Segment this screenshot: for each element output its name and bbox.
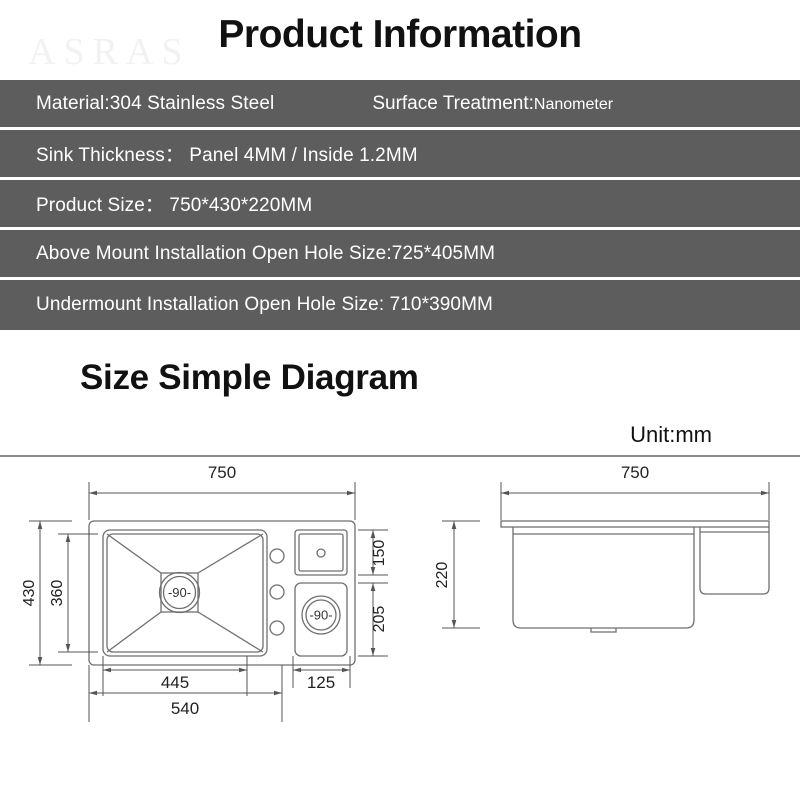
surface-treatment-key: Surface Treatment: bbox=[372, 93, 534, 114]
tap-hole-2 bbox=[270, 585, 284, 599]
surface-treatment-value: Nanometer bbox=[534, 96, 613, 113]
dim-750-side bbox=[501, 482, 769, 520]
dim-label-750-top: 750 bbox=[208, 463, 236, 482]
tap-hole-3 bbox=[270, 621, 284, 635]
dim-750-top bbox=[89, 482, 355, 520]
upper-right-compartment-inner bbox=[299, 534, 343, 571]
sheet-footer bbox=[0, 762, 800, 780]
dim-label-150: 150 bbox=[371, 540, 388, 567]
side-right-compartment bbox=[700, 527, 769, 594]
dim-label-125: 125 bbox=[307, 673, 335, 692]
side-deck-plate bbox=[501, 521, 769, 527]
sink-deck-outline bbox=[89, 521, 355, 665]
diagram-section: Size Simple Diagram Unit:mm bbox=[0, 330, 800, 780]
spec-label-surface-treatment: Surface Treatment:Nanometer bbox=[274, 93, 613, 115]
spec-row-above-mount-hole: Above Mount Installation Open Hole Size:… bbox=[0, 230, 800, 280]
main-drain-label: -90- bbox=[168, 585, 191, 600]
tap-hole-1 bbox=[270, 549, 284, 563]
spec-label-undermount-hole: Undermount Installation Open Hole Size: … bbox=[0, 294, 493, 316]
spec-label-above-mount-hole: Above Mount Installation Open Hole Size:… bbox=[0, 243, 495, 265]
spec-label-product-size: Product Size： 750*430*220MM bbox=[0, 190, 312, 217]
spec-row-product-size: Product Size： 750*430*220MM bbox=[0, 180, 800, 230]
dim-label-540: 540 bbox=[171, 699, 199, 718]
section-title-size-diagram: Size Simple Diagram bbox=[80, 358, 419, 398]
dim-label-750-side: 750 bbox=[621, 463, 649, 482]
title-block: ASRAS Product Information bbox=[0, 0, 800, 80]
spec-label-material: Material:304 Stainless Steel bbox=[0, 93, 274, 115]
specification-list: Material:304 Stainless Steel Surface Tre… bbox=[0, 80, 800, 330]
dim-label-445: 445 bbox=[161, 673, 189, 692]
spec-row-material: Material:304 Stainless Steel Surface Tre… bbox=[0, 80, 800, 130]
spec-row-thickness: Sink Thickness： Panel 4MM / Inside 1.2MM bbox=[0, 130, 800, 180]
top-view-drawing: -90- -90- bbox=[21, 482, 388, 722]
upper-right-small-hole bbox=[317, 549, 325, 557]
dim-label-430: 430 bbox=[21, 580, 38, 607]
section-divider bbox=[0, 455, 800, 457]
unit-label: Unit:mm bbox=[630, 422, 712, 448]
page-title: Product Information bbox=[0, 13, 800, 57]
dim-label-220: 220 bbox=[434, 562, 451, 589]
side-main-basin bbox=[513, 527, 694, 628]
side-view-drawing: 220 bbox=[434, 482, 769, 632]
technical-drawings: -90- -90- bbox=[0, 460, 800, 780]
spec-label-thickness: Sink Thickness： Panel 4MM / Inside 1.2MM bbox=[0, 140, 418, 167]
upper-right-compartment-outer bbox=[295, 530, 347, 575]
side-drain-label: -90- bbox=[309, 608, 332, 623]
spec-row-undermount-hole: Undermount Installation Open Hole Size: … bbox=[0, 280, 800, 330]
dim-label-360: 360 bbox=[49, 580, 66, 607]
dim-label-205: 205 bbox=[371, 606, 388, 633]
